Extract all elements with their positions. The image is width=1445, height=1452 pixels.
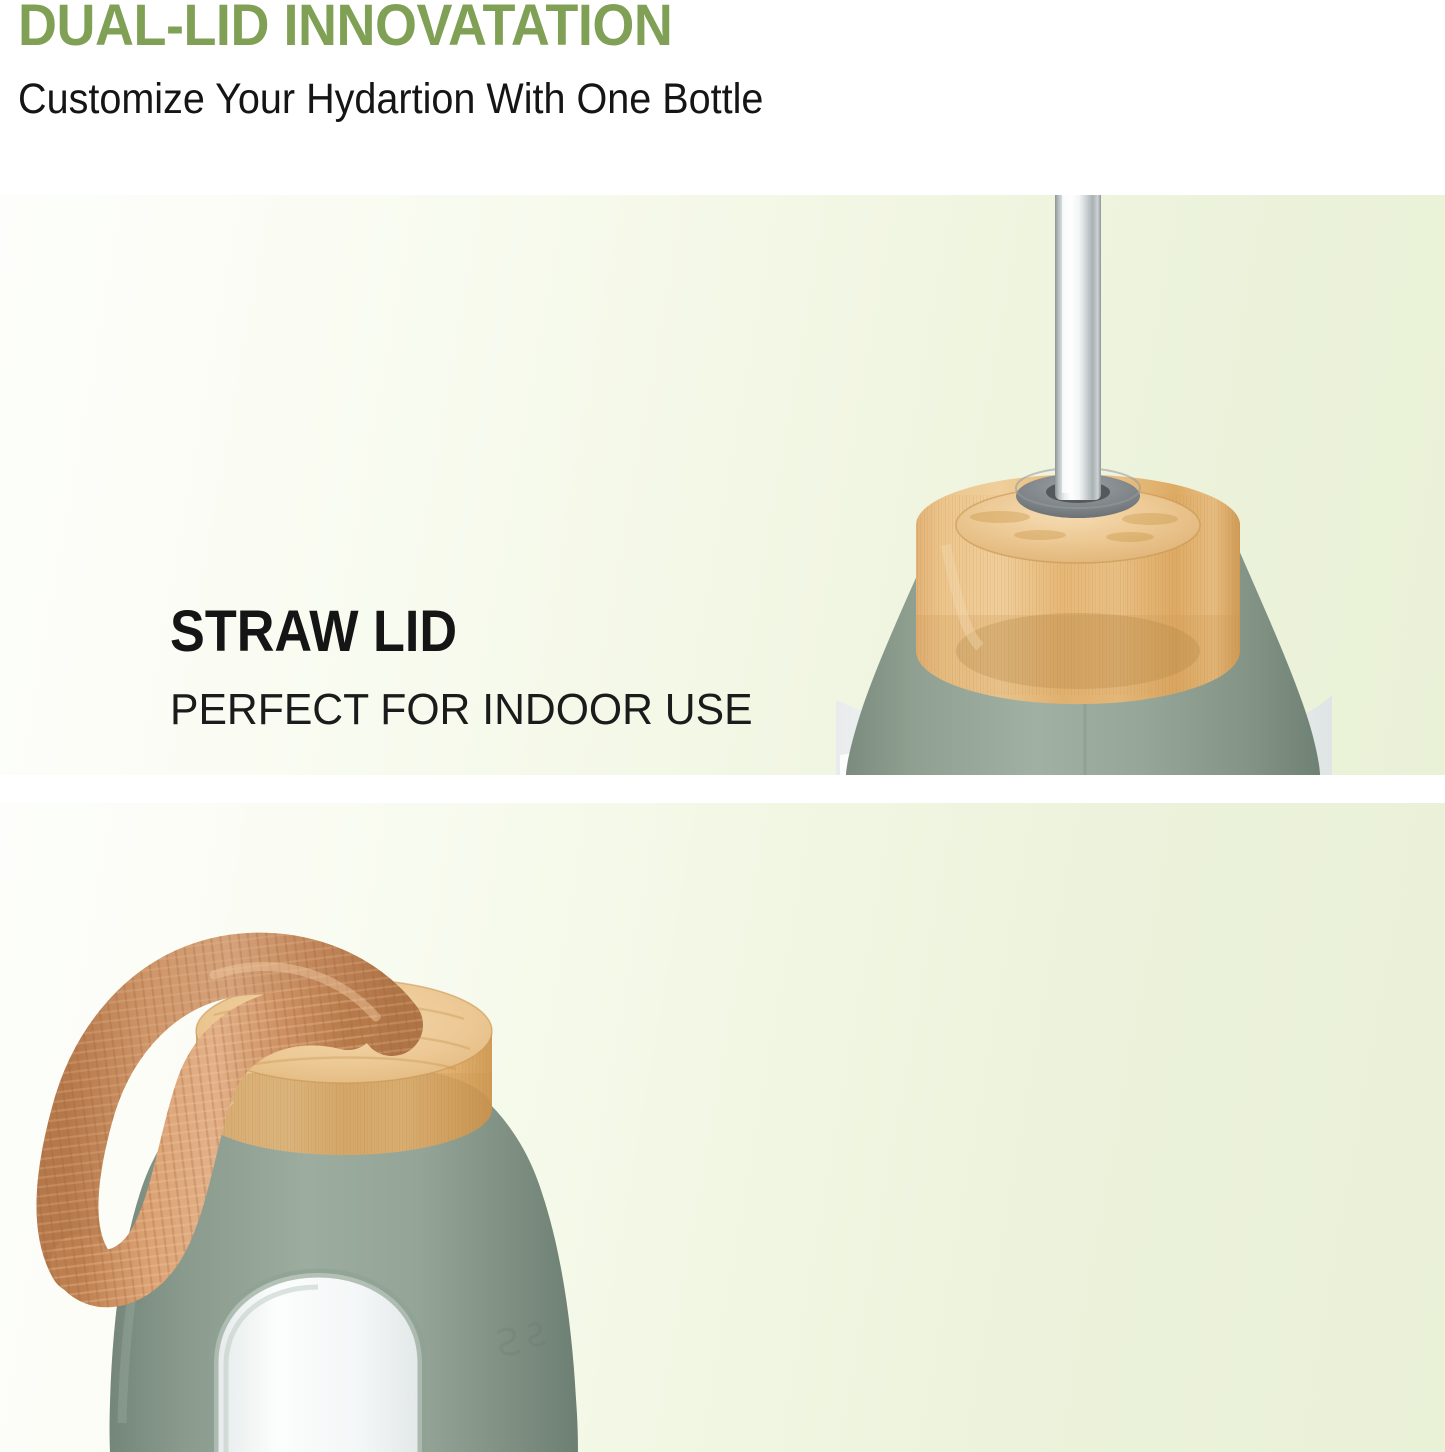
straw-lid-heading: STRAW LID: [170, 600, 711, 665]
header-banner: DUAL-LID INNOVATATION Customize Your Hyd…: [0, 0, 1445, 195]
straw-lid-subheading: PERFECT FOR INDOOR USE: [170, 683, 753, 737]
product-image-strap-lid-bottle: [0, 803, 1445, 1452]
straw-lid-caption: STRAW LID PERFECT FOR INDOOR USE: [170, 600, 771, 737]
panel-straw-lid: STRAW LID PERFECT FOR INDOOR USE: [0, 195, 1445, 775]
panel-bamboo-strap-lid: ON THE GO BAMBOO STRAP LID LEAKPROOF DES…: [0, 803, 1445, 1452]
stainless-steel-straw: [1055, 195, 1101, 500]
page-subtitle: Customize Your Hydartion With One Bottle: [18, 76, 763, 123]
page-title: DUAL-LID INNOVATATION: [18, 0, 672, 57]
panel-divider: [0, 775, 1445, 803]
